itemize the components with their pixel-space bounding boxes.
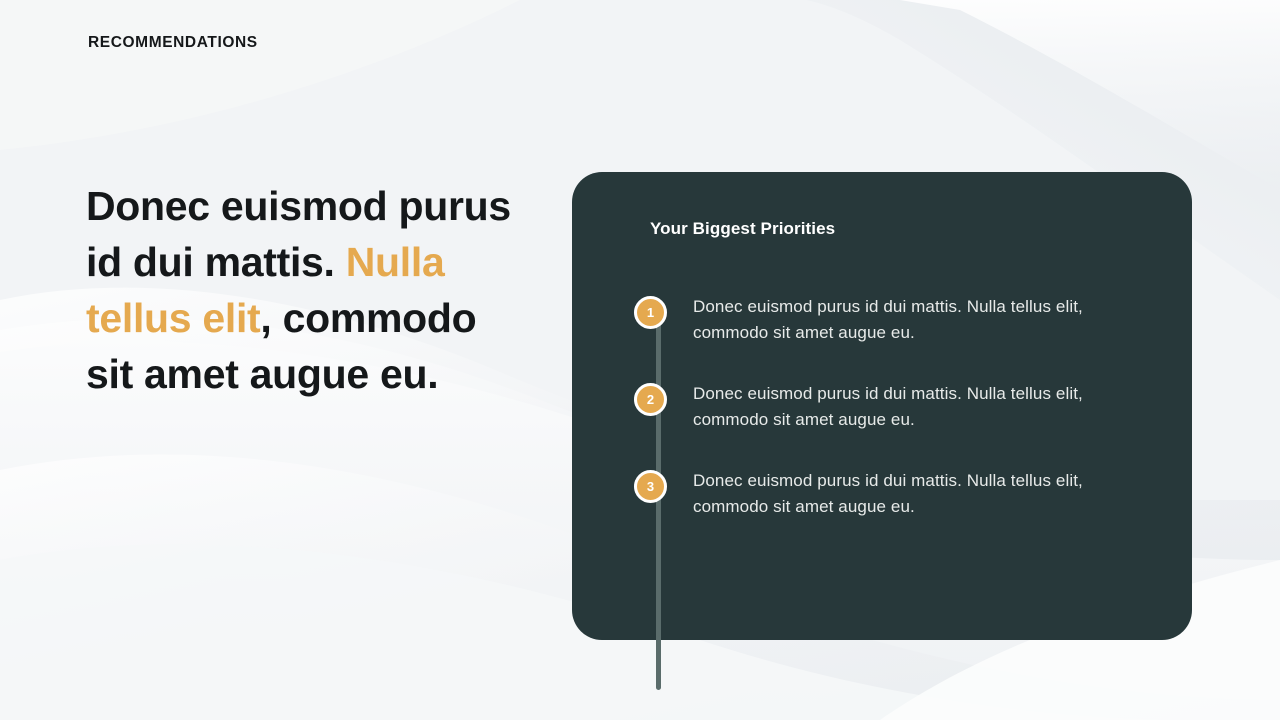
list-item-text: Donec euismod purus id dui mattis. Nulla…	[693, 468, 1098, 520]
priorities-card: Your Biggest Priorities 1 Donec euismod …	[572, 172, 1192, 640]
priorities-timeline: 1 Donec euismod purus id dui mattis. Nul…	[634, 294, 1144, 520]
list-item[interactable]: 3 Donec euismod purus id dui mattis. Nul…	[634, 468, 1144, 520]
list-item[interactable]: 1 Donec euismod purus id dui mattis. Nul…	[634, 294, 1144, 346]
step-number-badge: 1	[634, 296, 667, 329]
step-number-badge: 3	[634, 470, 667, 503]
headline-part-one: Donec euismod purus id dui mattis.	[86, 183, 511, 285]
step-number-badge: 2	[634, 383, 667, 416]
slide-canvas: RECOMMENDATIONS Donec euismod purus id d…	[0, 0, 1280, 720]
card-title: Your Biggest Priorities	[650, 219, 835, 239]
page-title: Donec euismod purus id dui mattis. Nulla…	[86, 178, 516, 402]
list-item[interactable]: 2 Donec euismod purus id dui mattis. Nul…	[634, 381, 1144, 433]
list-item-text: Donec euismod purus id dui mattis. Nulla…	[693, 381, 1098, 433]
section-eyebrow-label: RECOMMENDATIONS	[88, 34, 258, 52]
list-item-text: Donec euismod purus id dui mattis. Nulla…	[693, 294, 1098, 346]
